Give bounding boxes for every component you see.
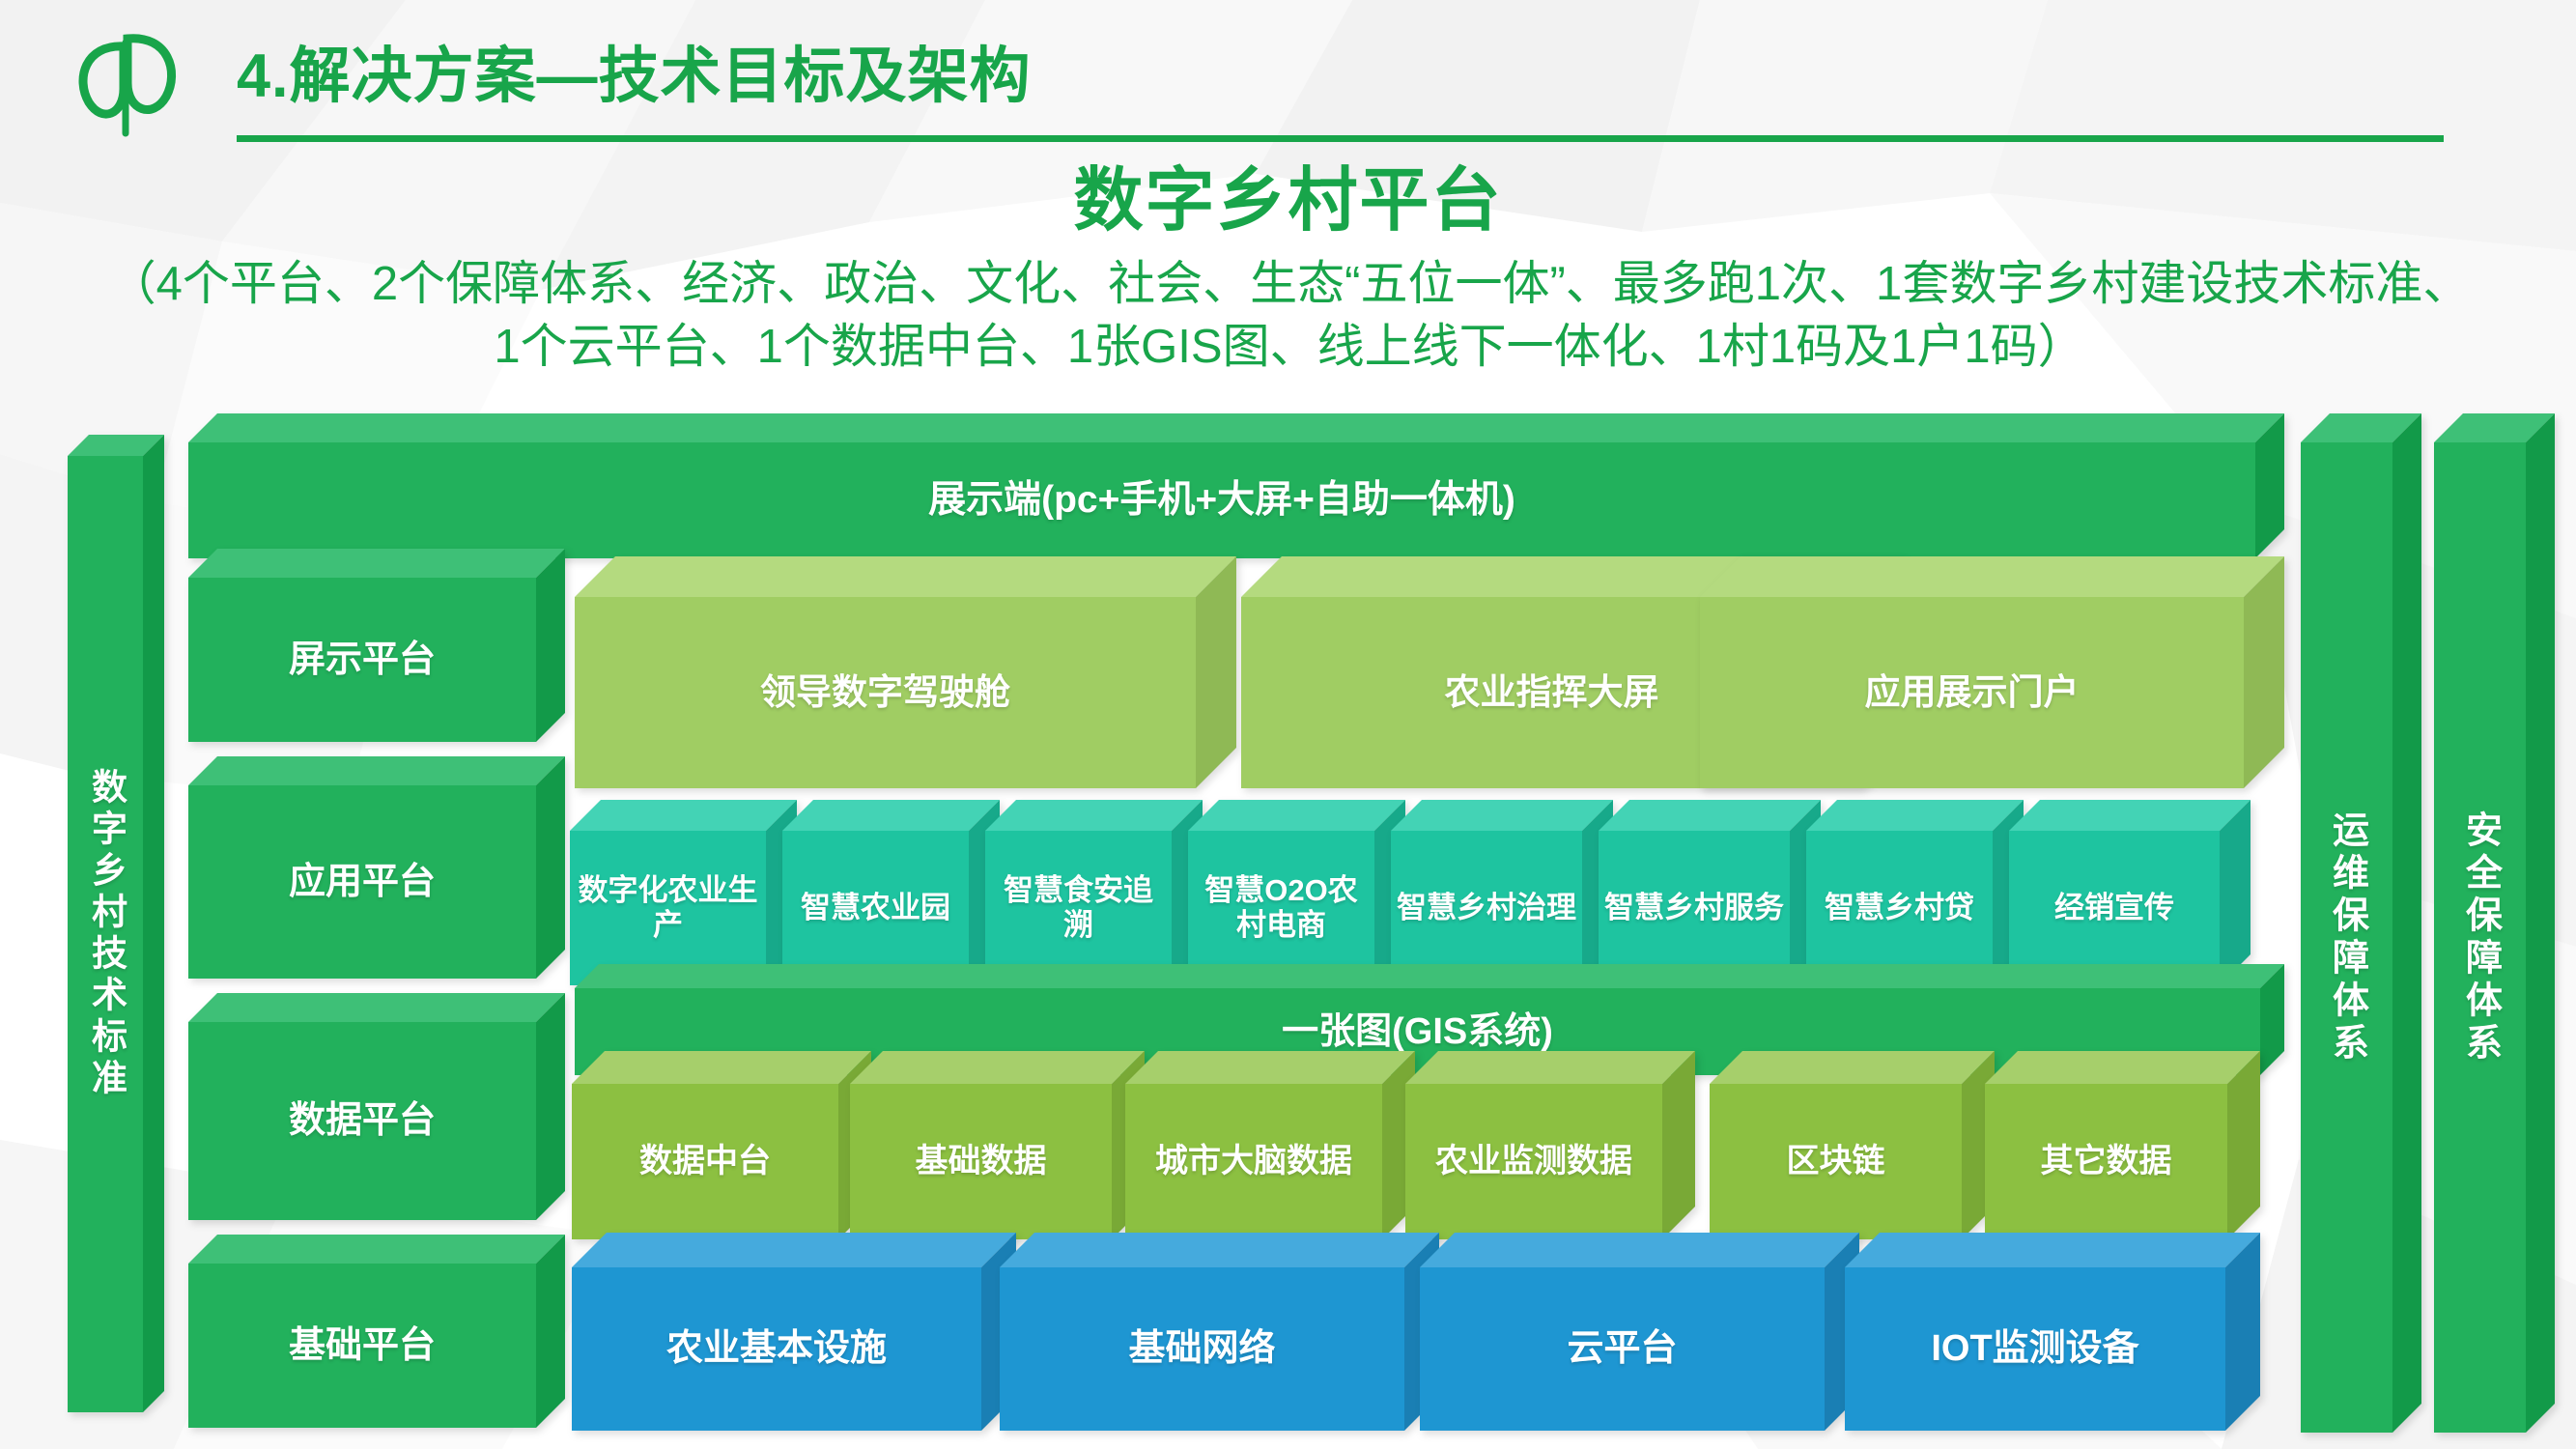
display-block-dashboard[interactable]: 领导数字驾驶舱: [575, 556, 1236, 788]
app-block-smart-farm[interactable]: 智慧农业园: [782, 800, 1000, 985]
infra-block-label: IOT监测设备: [1931, 1327, 2138, 1370]
architecture-diagram: 数字乡村技术标准 展示端(pc+手机+大屏+自助一体机) 屏示平台: [0, 413, 2576, 1449]
layer-label-text: 数据平台: [289, 1099, 436, 1142]
infra-block-label: 基础网络: [1128, 1327, 1275, 1370]
app-block-village-governance[interactable]: 智慧乡村治理: [1391, 800, 1613, 985]
infra-block-agri-facility[interactable]: 农业基本设施: [572, 1233, 1016, 1431]
display-block-label: 领导数字驾驶舱: [760, 672, 1010, 714]
app-block-label: 智慧乡村服务: [1604, 891, 1784, 925]
display-block-label: 应用展示门户: [1865, 672, 2080, 714]
layer-label-text: 应用平台: [289, 861, 436, 903]
app-block-label: 智慧农业园: [801, 891, 950, 925]
app-block-village-service[interactable]: 智慧乡村服务: [1599, 800, 1821, 985]
app-block-food-safety[interactable]: 智慧食安追溯: [985, 800, 1203, 985]
display-block-label: 农业指挥大屏: [1445, 672, 1659, 714]
app-block-digital-farming[interactable]: 数字化农业生产: [570, 800, 797, 985]
right-pillar-operations[interactable]: 运维保障体系: [2301, 413, 2421, 1433]
layer-label-data[interactable]: 数据平台: [188, 993, 565, 1220]
left-pillar-label: 数字乡村技术标准: [85, 768, 127, 1100]
right-pillar-security[interactable]: 安全保障体系: [2434, 413, 2555, 1433]
layer-label-display[interactable]: 屏示平台: [188, 549, 565, 742]
data-block-agri-monitoring[interactable]: 农业监测数据: [1405, 1051, 1695, 1239]
layer-label-text: 屏示平台: [289, 639, 436, 681]
display-block-portal[interactable]: 应用展示门户: [1700, 556, 2284, 788]
app-block-village-loan[interactable]: 智慧乡村贷: [1806, 800, 2024, 985]
header-divider: [237, 135, 2444, 142]
data-block-label: 数据中台: [639, 1143, 771, 1180]
data-block-blockchain[interactable]: 区块链: [1710, 1051, 1995, 1239]
data-block-label: 基础数据: [916, 1143, 1047, 1180]
app-block-label: 数字化农业生产: [576, 873, 760, 943]
layer-label-infrastructure[interactable]: 基础平台: [188, 1235, 565, 1428]
infra-block-iot[interactable]: IOT监测设备: [1845, 1233, 2260, 1431]
infra-block-network[interactable]: 基础网络: [1000, 1233, 1439, 1431]
slide-header: 4.解决方案—技术目标及架构: [0, 0, 2576, 155]
app-block-label: 智慧乡村治理: [1397, 891, 1576, 925]
app-block-o2o-ecommerce[interactable]: 智慧O2O农村电商: [1188, 800, 1405, 985]
display-terminal-bar[interactable]: 展示端(pc+手机+大屏+自助一体机): [188, 413, 2284, 558]
app-block-label: 智慧食安追溯: [991, 873, 1166, 943]
infra-block-label: 农业基本设施: [666, 1327, 887, 1370]
right-pillar-label: 运维保障体系: [2325, 810, 2367, 1065]
app-block-label: 智慧乡村贷: [1825, 891, 1974, 925]
gis-bar-label: 一张图(GIS系统): [1282, 1010, 1553, 1053]
data-block-label: 城市大脑数据: [1155, 1143, 1352, 1180]
layer-label-text: 基础平台: [289, 1324, 436, 1367]
platform-subtitle: （4个平台、2个保障体系、经济、政治、文化、社会、生态“五位一体”、最多跑1次、…: [97, 253, 2482, 378]
data-block-label: 区块链: [1787, 1143, 1885, 1180]
display-terminal-label: 展示端(pc+手机+大屏+自助一体机): [928, 478, 1515, 522]
left-pillar-standards[interactable]: 数字乡村技术标准: [68, 435, 164, 1412]
leaf-icon: [68, 21, 184, 137]
app-block-distribution-promo[interactable]: 经销宣传: [2009, 800, 2250, 985]
page-title: 4.解决方案—技术目标及架构: [237, 27, 1032, 115]
data-block-basic-data[interactable]: 基础数据: [850, 1051, 1145, 1239]
data-block-midplatform[interactable]: 数据中台: [572, 1051, 871, 1239]
slide-canvas: 4.解决方案—技术目标及架构 数字乡村平台 （4个平台、2个保障体系、经济、政治…: [0, 0, 2576, 1449]
layer-label-application[interactable]: 应用平台: [188, 756, 565, 979]
data-block-label: 其它数据: [2041, 1143, 2172, 1180]
app-block-label: 智慧O2O农村电商: [1194, 873, 1369, 943]
data-block-city-brain[interactable]: 城市大脑数据: [1125, 1051, 1415, 1239]
infra-block-cloud[interactable]: 云平台: [1420, 1233, 1859, 1431]
data-block-label: 农业监测数据: [1435, 1143, 1632, 1180]
app-block-label: 经销宣传: [2054, 891, 2174, 925]
data-block-other-data[interactable]: 其它数据: [1985, 1051, 2260, 1239]
platform-title: 数字乡村平台: [0, 143, 2576, 244]
infra-block-label: 云平台: [1567, 1327, 1677, 1370]
right-pillar-label: 安全保障体系: [2458, 810, 2501, 1065]
